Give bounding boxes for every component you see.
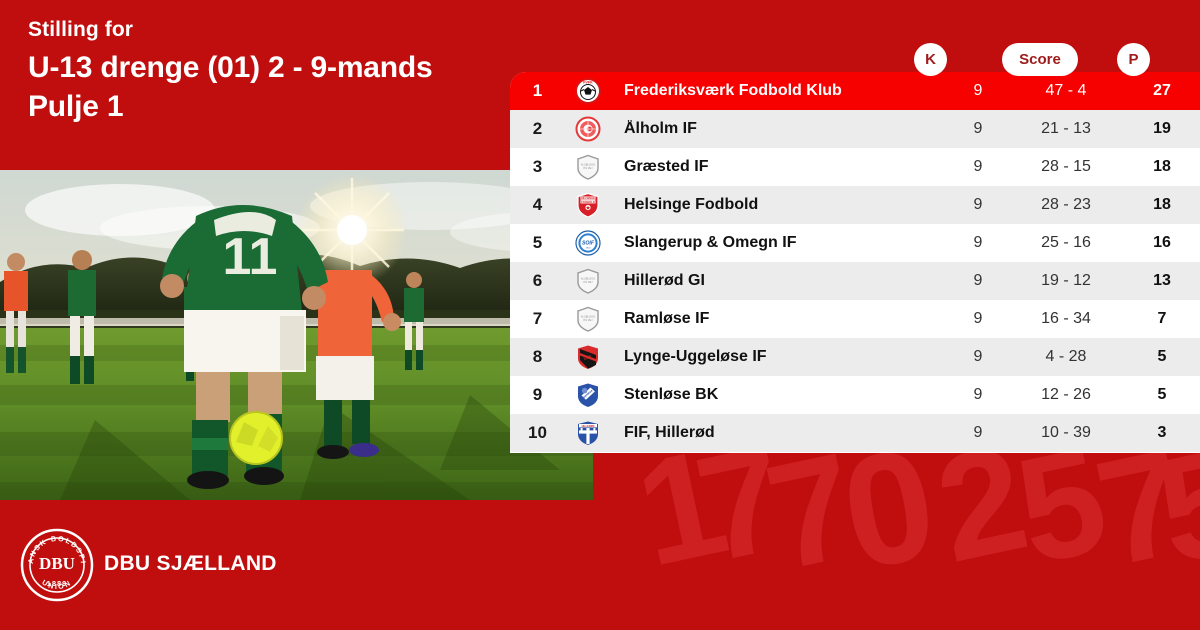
row-points: 16 (1124, 234, 1200, 252)
svg-text:KLUBLOGO: KLUBLOGO (580, 315, 594, 319)
row-matches: 9 (948, 310, 1008, 328)
row-matches: 9 (948, 386, 1008, 404)
table-row[interactable]: 3KLUBLOGOPÅ VEJGræsted IF928 - 1518 (510, 148, 1200, 186)
svg-text:HILLERØD: HILLERØD (581, 425, 594, 428)
hero-photo: 11 (0, 170, 593, 500)
column-header-score: Score (1002, 43, 1078, 76)
row-points: 27 (1124, 82, 1200, 100)
row-rank: 9 (510, 385, 565, 405)
row-team-name[interactable]: Stenløse BK (610, 386, 948, 404)
club-logo-icon (565, 116, 610, 142)
row-team-name[interactable]: Hillerød GI (610, 272, 948, 290)
svg-text:FVFK: FVFK (583, 81, 593, 85)
row-rank: 8 (510, 347, 565, 367)
footer: DANSK BOLDSPIL UNION DBU 1889 DBU SJÆLLA… (0, 500, 1200, 630)
svg-text:11: 11 (223, 228, 278, 286)
row-points: 3 (1124, 424, 1200, 442)
standings-table: 1FVFKFrederiksværk Fodbold Klub947 - 427… (510, 72, 1200, 453)
column-header-k: K (914, 43, 947, 76)
organisation-name: DBU SJÆLLAND (104, 552, 277, 576)
row-team-name[interactable]: Græsted IF (610, 158, 948, 176)
title-block: Stilling for U-13 drenge (01) 2 - 9-mand… (28, 18, 528, 126)
row-team-name[interactable]: FIF, Hillerød (610, 424, 948, 442)
club-logo-icon: KLUBLOGOPÅ VEJ (565, 306, 610, 332)
svg-text:KLUBLOGO: KLUBLOGO (580, 277, 594, 281)
row-goals: 25 - 16 (1008, 234, 1124, 252)
row-rank: 3 (510, 157, 565, 177)
row-team-name[interactable]: Ålholm IF (610, 120, 948, 138)
row-matches: 9 (948, 424, 1008, 442)
row-team-name[interactable]: Helsinge Fodbold (610, 196, 948, 214)
table-row[interactable]: 5SOIF1910Slangerup & Omegn IF925 - 1616 (510, 224, 1200, 262)
row-goals: 21 - 13 (1008, 120, 1124, 138)
svg-text:1910: 1910 (585, 247, 591, 249)
row-rank: 10 (510, 423, 565, 443)
standings-rows: 1FVFKFrederiksværk Fodbold Klub947 - 427… (510, 72, 1200, 452)
svg-text:KLUBLOGO: KLUBLOGO (580, 163, 594, 167)
club-logo-icon: HILLERØD (565, 420, 610, 446)
row-goals: 47 - 4 (1008, 82, 1124, 100)
page-title: U-13 drenge (01) 2 - 9-mands Pulje 1 (28, 48, 528, 126)
row-matches: 9 (948, 82, 1008, 100)
dbu-crest-icon: DANSK BOLDSPIL UNION DBU 1889 (20, 528, 94, 602)
row-goals: 16 - 34 (1008, 310, 1124, 328)
table-row[interactable]: 7KLUBLOGOPÅ VEJRamløse IF916 - 347 (510, 300, 1200, 338)
football-match-illustration: 11 (0, 170, 593, 500)
svg-text:1889: 1889 (47, 579, 68, 588)
row-points: 18 (1124, 196, 1200, 214)
row-matches: 9 (948, 196, 1008, 214)
row-matches: 9 (948, 120, 1008, 138)
dbu-logo: DANSK BOLDSPIL UNION DBU 1889 (20, 528, 94, 602)
row-rank: 4 (510, 195, 565, 215)
table-row[interactable]: 2Ålholm IF921 - 1319 (510, 110, 1200, 148)
table-row[interactable]: 10HILLERØDFIF, Hillerød910 - 393 (510, 414, 1200, 452)
row-team-name[interactable]: Frederiksværk Fodbold Klub (610, 82, 948, 100)
row-team-name[interactable]: Slangerup & Omegn IF (610, 234, 948, 252)
club-logo-icon: SOIF1910 (565, 230, 610, 256)
row-points: 18 (1124, 158, 1200, 176)
row-rank: 7 (510, 309, 565, 329)
row-matches: 9 (948, 158, 1008, 176)
page-kicker: Stilling for (28, 18, 528, 42)
club-logo-icon: LUIF (565, 344, 610, 370)
table-row[interactable]: 1FVFKFrederiksværk Fodbold Klub947 - 427 (510, 72, 1200, 110)
column-header-p: P (1117, 43, 1150, 76)
club-logo-icon: HELSINGEFODBOLD (565, 192, 610, 218)
row-goals: 28 - 23 (1008, 196, 1124, 214)
row-rank: 5 (510, 233, 565, 253)
row-points: 19 (1124, 120, 1200, 138)
table-row[interactable]: 4HELSINGEFODBOLDHelsinge Fodbold928 - 23… (510, 186, 1200, 224)
svg-text:SOIF: SOIF (581, 241, 594, 247)
row-rank: 6 (510, 271, 565, 291)
row-team-name[interactable]: Lynge-Uggeløse IF (610, 348, 948, 366)
row-goals: 10 - 39 (1008, 424, 1124, 442)
club-logo-icon: KLUBLOGOPÅ VEJ (565, 268, 610, 294)
club-logo-icon: KLUBLOGOPÅ VEJ (565, 154, 610, 180)
table-row[interactable]: 6KLUBLOGOPÅ VEJHillerød GI919 - 1213 (510, 262, 1200, 300)
club-logo-icon: FVFK (565, 78, 610, 104)
row-matches: 9 (948, 272, 1008, 290)
row-points: 5 (1124, 386, 1200, 404)
club-logo-icon: Stenløse (565, 382, 610, 408)
row-goals: 19 - 12 (1008, 272, 1124, 290)
row-team-name[interactable]: Ramløse IF (610, 310, 948, 328)
row-goals: 4 - 28 (1008, 348, 1124, 366)
table-column-headers: K Score P (510, 43, 1200, 76)
row-goals: 28 - 15 (1008, 158, 1124, 176)
row-matches: 9 (948, 234, 1008, 252)
table-row[interactable]: 9StenløseStenløse BK912 - 265 (510, 376, 1200, 414)
row-goals: 12 - 26 (1008, 386, 1124, 404)
row-points: 13 (1124, 272, 1200, 290)
row-matches: 9 (948, 348, 1008, 366)
table-row[interactable]: 8LUIFLynge-Uggeløse IF94 - 285 (510, 338, 1200, 376)
row-points: 5 (1124, 348, 1200, 366)
row-points: 7 (1124, 310, 1200, 328)
svg-text:FODBOLD: FODBOLD (581, 200, 595, 204)
svg-text:DBU: DBU (39, 554, 75, 573)
